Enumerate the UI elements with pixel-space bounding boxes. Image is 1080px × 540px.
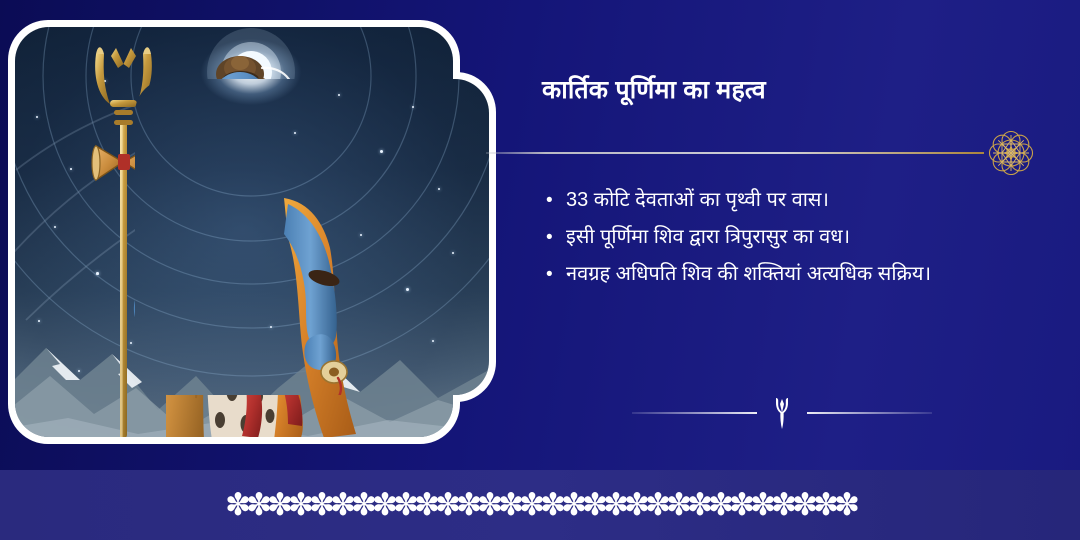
card-photo-step bbox=[135, 79, 489, 395]
bottom-decorative-band: ✽✽✽✽✽✽✽✽✽✽✽✽✽✽✽✽✽✽✽✽✽✽✽✽✽✽✽✽✽✽ bbox=[0, 470, 1080, 540]
flower-glyph-icon: ✽ bbox=[834, 490, 855, 521]
flower-glyph-icon: ✽ bbox=[561, 490, 582, 521]
flower-glyph-icon: ✽ bbox=[225, 490, 246, 521]
mandala-rosette-icon bbox=[980, 122, 1042, 184]
flower-glyph-icon: ✽ bbox=[666, 490, 687, 521]
flower-glyph-icon: ✽ bbox=[393, 490, 414, 521]
page-title: कार्तिक पूर्णिमा का महत्व bbox=[542, 72, 766, 106]
bullet-marker: • bbox=[542, 185, 566, 216]
flower-glyph-icon: ✽ bbox=[582, 490, 603, 521]
flower-glyph-icon: ✽ bbox=[729, 490, 750, 521]
list-item-text: नवग्रह अधिपति शिव की शक्तियां अत्यधिक सक… bbox=[566, 259, 1054, 290]
list-item: • 33 कोटि देवताओं का पृथ्वी पर वास। bbox=[542, 185, 1054, 216]
list-item-text: 33 कोटि देवताओं का पृथ्वी पर वास। bbox=[566, 185, 1054, 216]
title-divider-rule bbox=[486, 152, 984, 154]
list-item: • इसी पूर्णिमा शिव द्वारा त्रिपुरासुर का… bbox=[542, 222, 1054, 253]
flower-glyph-icon: ✽ bbox=[519, 490, 540, 521]
flower-glyph-icon: ✽ bbox=[708, 490, 729, 521]
flower-glyph-icon: ✽ bbox=[771, 490, 792, 521]
flower-glyph-icon: ✽ bbox=[435, 490, 456, 521]
flower-glyph-icon: ✽ bbox=[540, 490, 561, 521]
trishul-icon bbox=[767, 396, 797, 430]
list-item-text: इसी पूर्णिमा शिव द्वारा त्रिपुरासुर का व… bbox=[566, 222, 1054, 253]
flower-glyph-icon: ✽ bbox=[414, 490, 435, 521]
shiva-image-card bbox=[8, 20, 496, 444]
flower-glyph-icon: ✽ bbox=[624, 490, 645, 521]
flower-glyph-icon: ✽ bbox=[309, 490, 330, 521]
flower-glyph-icon: ✽ bbox=[477, 490, 498, 521]
flower-glyph-icon: ✽ bbox=[372, 490, 393, 521]
flower-border-row: ✽✽✽✽✽✽✽✽✽✽✽✽✽✽✽✽✽✽✽✽✽✽✽✽✽✽✽✽✽✽ bbox=[0, 470, 1080, 540]
trishul-divider bbox=[632, 393, 932, 433]
flower-glyph-icon: ✽ bbox=[351, 490, 372, 521]
list-item: • नवग्रह अधिपति शिव की शक्तियां अत्यधिक … bbox=[542, 259, 1054, 290]
shiva-artwork-step bbox=[135, 79, 489, 395]
flower-glyph-icon: ✽ bbox=[687, 490, 708, 521]
poster-canvas: कार्तिक पूर्णिमा का महत्व bbox=[0, 0, 1080, 540]
flower-glyph-icon: ✽ bbox=[288, 490, 309, 521]
divider-line-right bbox=[807, 412, 932, 414]
flower-glyph-icon: ✽ bbox=[246, 490, 267, 521]
content-column: कार्तिक पूर्णिमा का महत्व bbox=[536, 0, 1080, 470]
flower-glyph-icon: ✽ bbox=[750, 490, 771, 521]
bullet-list: • 33 कोटि देवताओं का पृथ्वी पर वास। • इस… bbox=[542, 185, 1054, 296]
shiva-figure-step bbox=[135, 79, 428, 395]
flower-glyph-icon: ✽ bbox=[813, 490, 834, 521]
flower-glyph-icon: ✽ bbox=[792, 490, 813, 521]
flower-glyph-icon: ✽ bbox=[267, 490, 288, 521]
flower-glyph-icon: ✽ bbox=[456, 490, 477, 521]
divider-line-left bbox=[632, 412, 757, 414]
flower-glyph-icon: ✽ bbox=[498, 490, 519, 521]
bullet-marker: • bbox=[542, 222, 566, 253]
flower-glyph-icon: ✽ bbox=[603, 490, 624, 521]
flower-glyph-icon: ✽ bbox=[645, 490, 666, 521]
flower-glyph-icon: ✽ bbox=[330, 490, 351, 521]
bullet-marker: • bbox=[542, 259, 566, 290]
